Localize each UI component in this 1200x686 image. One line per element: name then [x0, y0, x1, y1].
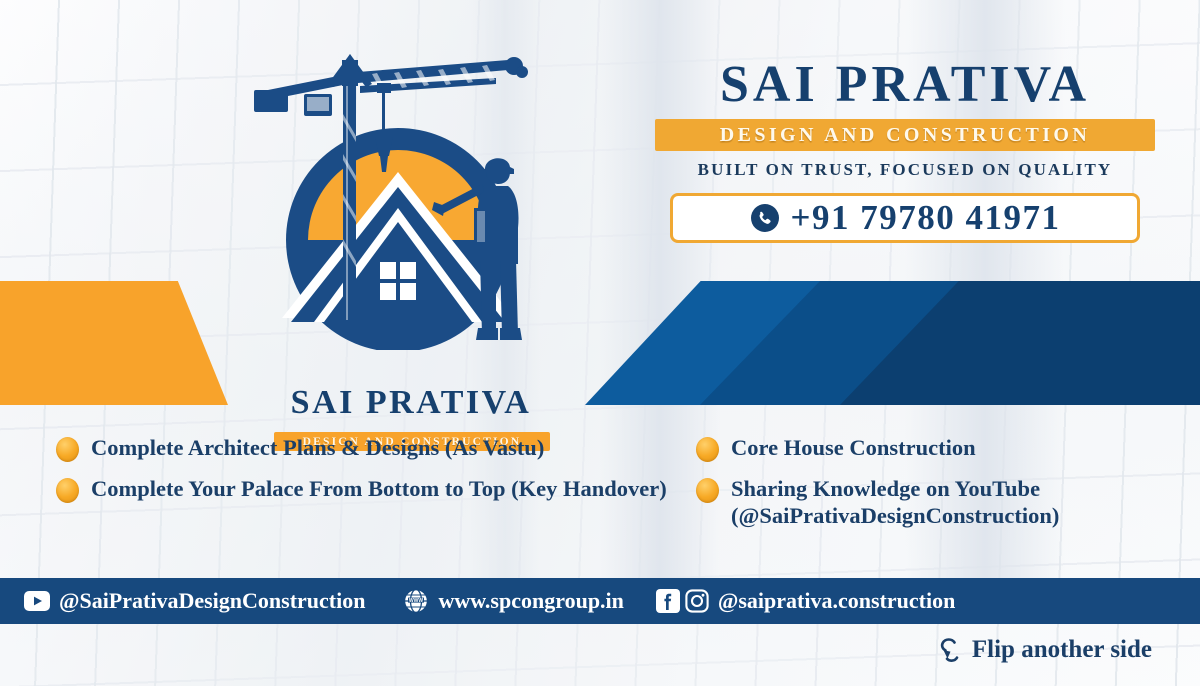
brand-header: SAI PRATIVA DESIGN AND CONSTRUCTION BUIL… — [655, 58, 1155, 243]
bullet-dot-icon — [56, 437, 79, 462]
contact-footer-bar: @SaiPrativaDesignConstruction WWW www.sp… — [0, 578, 1200, 624]
phone-icon — [750, 203, 780, 233]
youtube-icon — [24, 591, 50, 611]
phone-number: +91 79780 41971 — [791, 198, 1061, 238]
website-contact[interactable]: WWW www.spcongroup.in — [403, 588, 623, 614]
logo-wordmark: SAI PRATIVA — [252, 386, 570, 420]
page-title: SAI PRATIVA — [655, 58, 1155, 112]
service-label: Core House Construction — [731, 434, 976, 461]
company-logo: SAI PRATIVA DESIGN AND CONSTRUCTION — [246, 50, 576, 410]
service-label: Complete Your Palace From Bottom to Top … — [91, 475, 667, 502]
social-icon-group — [656, 589, 709, 613]
list-item: Core House Construction — [696, 434, 1166, 462]
flip-note[interactable]: Flip another side — [936, 636, 1152, 664]
services-column-left: Complete Architect Plans & Designs (As V… — [56, 434, 696, 543]
bullet-dot-icon — [696, 478, 719, 503]
flip-label: Flip another side — [972, 636, 1152, 664]
list-item: Sharing Knowledge on YouTube (@SaiPrativ… — [696, 475, 1166, 530]
services-column-right: Core House Construction Sharing Knowledg… — [696, 434, 1166, 543]
phone-contact-box[interactable]: +91 79780 41971 — [670, 193, 1140, 243]
bullet-dot-icon — [696, 437, 719, 462]
business-card: SAI PRATIVA DESIGN AND CONSTRUCTION SAI … — [0, 0, 1200, 686]
logo-mark-graphic — [246, 50, 576, 350]
facebook-icon — [656, 589, 680, 613]
globe-icon: WWW — [403, 588, 429, 614]
service-label: Complete Architect Plans & Designs (As V… — [91, 434, 544, 461]
list-item: Complete Architect Plans & Designs (As V… — [56, 434, 696, 462]
social-contact[interactable]: @saiprativa.construction — [656, 588, 955, 614]
instagram-handle: @saiprativa.construction — [718, 588, 955, 614]
website-url: www.spcongroup.in — [438, 588, 623, 614]
youtube-handle: @SaiPrativaDesignConstruction — [59, 588, 365, 614]
youtube-contact[interactable]: @SaiPrativaDesignConstruction — [24, 588, 365, 614]
instagram-icon — [685, 589, 709, 613]
services-list: Complete Architect Plans & Designs (As V… — [56, 434, 1166, 543]
house-window-icon — [380, 262, 416, 300]
brand-subtitle-band: DESIGN AND CONSTRUCTION — [655, 119, 1155, 151]
list-item: Complete Your Palace From Bottom to Top … — [56, 475, 696, 503]
brand-tagline: BUILT ON TRUST, FOCUSED ON QUALITY — [655, 160, 1155, 180]
svg-text:WWW: WWW — [409, 598, 423, 604]
bullet-dot-icon — [56, 478, 79, 503]
flip-arrow-icon — [936, 636, 962, 664]
service-label: Sharing Knowledge on YouTube (@SaiPrativ… — [731, 475, 1166, 530]
